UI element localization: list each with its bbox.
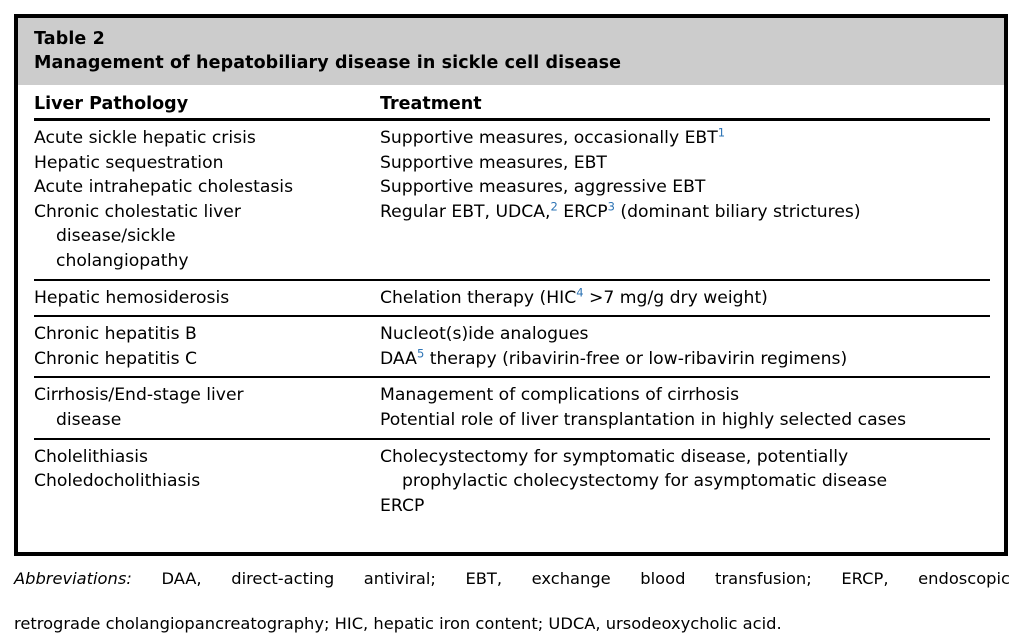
cell-pathology-cirrhosis: Cirrhosis/End-stage liver disease: [34, 383, 380, 432]
table-container: Table 2 Management of hepatobiliary dise…: [14, 14, 1008, 556]
table-row-group-hepatitis: Chronic hepatitis B Chronic hepatitis C …: [34, 317, 990, 376]
treatment-text: Regular EBT, UDCA,: [380, 202, 551, 222]
abbreviations-label: Abbreviations:: [14, 569, 132, 588]
table-figure-page: Table 2 Management of hepatobiliary dise…: [0, 0, 1024, 643]
treatment-line: Management of complications of cirrhosis: [380, 383, 990, 408]
pathology-line: disease/sickle: [34, 224, 380, 249]
cell-pathology-hepatitis: Chronic hepatitis B Chronic hepatitis C: [34, 322, 380, 371]
cell-treatment-cirrhosis: Management of complications of cirrhosis…: [380, 383, 990, 432]
table-row-group-hemosiderosis: Hepatic hemosiderosis Chelation therapy …: [34, 281, 990, 316]
treatment-text: DAA: [380, 349, 417, 369]
pathology-line: Cholelithiasis: [34, 445, 380, 470]
pathology-line: Acute intrahepatic cholestasis: [34, 175, 380, 200]
pathology-line: Chronic hepatitis C: [34, 347, 380, 372]
footnote-ref-2: 2: [551, 199, 558, 213]
treatment-line: Potential role of liver transplantation …: [380, 408, 990, 433]
table-title: Management of hepatobiliary disease in s…: [34, 51, 988, 75]
cell-treatment-hemosiderosis: Chelation therapy (HIC4 >7 mg/g dry weig…: [380, 286, 990, 311]
table-caption-header: Table 2 Management of hepatobiliary dise…: [18, 18, 1004, 85]
cell-pathology-cholelithiasis: Cholelithiasis Choledocholithiasis: [34, 445, 380, 519]
treatment-text: ERCP: [558, 202, 608, 222]
cell-pathology-acute: Acute sickle hepatic crisis Hepatic sequ…: [34, 126, 380, 274]
table-row-group-cirrhosis: Cirrhosis/End-stage liver disease Manage…: [34, 378, 990, 437]
pathology-line: cholangiopathy: [34, 249, 380, 274]
column-header-treatment: Treatment: [380, 93, 990, 115]
pathology-line: Chronic cholestatic liver: [34, 200, 380, 225]
cell-treatment-acute: Supportive measures, occasionally EBT1 S…: [380, 126, 990, 274]
column-header-liver-pathology: Liver Pathology: [34, 93, 380, 115]
pathology-line: Chronic hepatitis B: [34, 322, 380, 347]
treatment-line: Nucleot(s)ide analogues: [380, 322, 990, 347]
treatment-line: ERCP: [380, 494, 990, 519]
pathology-line: Hepatic hemosiderosis: [34, 286, 380, 311]
treatment-line: Supportive measures, aggressive EBT: [380, 175, 990, 200]
treatment-line: Regular EBT, UDCA,2 ERCP3 (dominant bili…: [380, 200, 990, 225]
table-row-group-acute: Acute sickle hepatic crisis Hepatic sequ…: [34, 121, 990, 279]
cell-pathology-hemosiderosis: Hepatic hemosiderosis: [34, 286, 380, 311]
footnote-line-2: retrograde cholangiopancreatography; HIC…: [14, 613, 1010, 636]
pathology-line: Choledocholithiasis: [34, 469, 380, 494]
cell-treatment-cholelithiasis: Cholecystectomy for symptomatic disease,…: [380, 445, 990, 519]
footnote-line-1: Abbreviations: DAA, direct-acting antivi…: [14, 568, 1010, 613]
treatment-line: Supportive measures, occasionally EBT1: [380, 126, 990, 151]
cell-treatment-hepatitis: Nucleot(s)ide analogues DAA5 therapy (ri…: [380, 322, 990, 371]
treatment-text: (dominant biliary strictures): [615, 202, 861, 222]
treatment-line: prophylactic cholecystectomy for asympto…: [380, 469, 990, 494]
pathology-line: Cirrhosis/End-stage liver: [34, 383, 380, 408]
treatment-line: DAA5 therapy (ribavirin-free or low-riba…: [380, 347, 990, 372]
pathology-line: Acute sickle hepatic crisis: [34, 126, 380, 151]
treatment-text: Supportive measures, occasionally EBT: [380, 128, 718, 148]
treatment-text: Chelation therapy (HIC: [380, 288, 576, 308]
table-column-header-row: Liver Pathology Treatment: [34, 85, 990, 118]
treatment-line: Supportive measures, EBT: [380, 151, 990, 176]
treatment-text: therapy (ribavirin-free or low-ribavirin…: [424, 349, 847, 369]
pathology-line: Hepatic sequestration: [34, 151, 380, 176]
pathology-line: disease: [34, 408, 380, 433]
footnote-ref-4: 4: [576, 285, 583, 299]
footnote-ref-3: 3: [608, 199, 615, 213]
treatment-text: >7 mg/g dry weight): [584, 288, 768, 308]
table-number-label: Table 2: [34, 27, 988, 51]
footnote-ref-1: 1: [718, 125, 725, 139]
table-row-group-cholelithiasis: Cholelithiasis Choledocholithiasis Chole…: [34, 440, 990, 524]
treatment-line: Cholecystectomy for symptomatic disease,…: [380, 445, 990, 470]
table-body: Liver Pathology Treatment Acute sickle h…: [18, 85, 1004, 523]
treatment-line: Chelation therapy (HIC4 >7 mg/g dry weig…: [380, 286, 990, 311]
abbreviations-footnote: Abbreviations: DAA, direct-acting antivi…: [14, 568, 1010, 636]
abbreviations-text-1: DAA, direct-acting antiviral; EBT, excha…: [132, 569, 1010, 588]
